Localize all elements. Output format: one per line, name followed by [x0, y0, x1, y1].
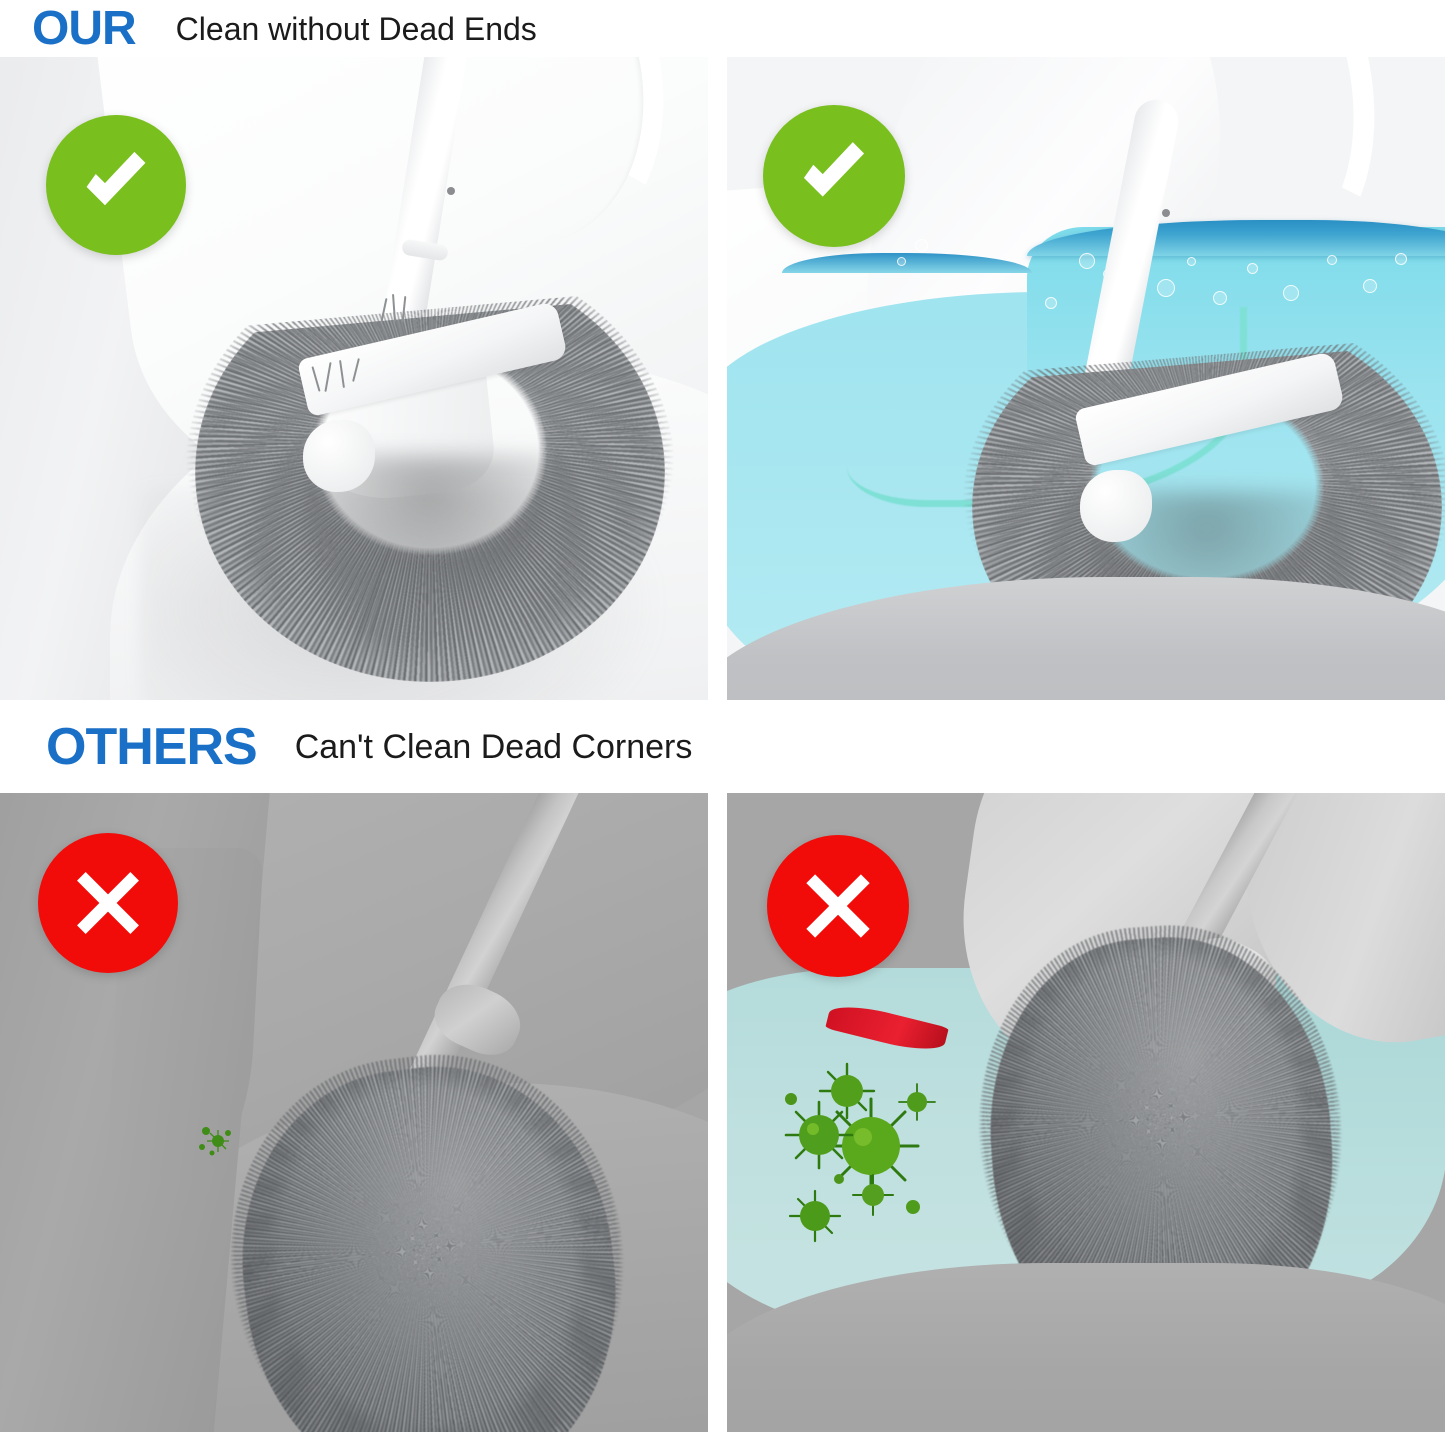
bubble-icon — [1283, 285, 1299, 301]
check-circle-icon — [763, 105, 905, 247]
germ-icon — [196, 1123, 252, 1165]
panel-ours-dry — [0, 57, 708, 700]
panel-others-water — [727, 793, 1445, 1432]
curved-brush-head — [195, 262, 665, 682]
ours-subtitle-label: Clean without Dead Ends — [176, 13, 537, 45]
panel-others-dry — [0, 793, 708, 1432]
handle-hole-dot — [447, 187, 455, 195]
panel-ours-water — [727, 57, 1445, 700]
others-header-band: OTHERS Can't Clean Dead Corners — [0, 700, 1445, 793]
brush-hub — [303, 420, 375, 492]
check-circle-icon — [46, 115, 186, 255]
brush-hub — [1080, 470, 1152, 542]
bristle-shading — [242, 455, 618, 657]
bubble-icon — [1157, 279, 1175, 297]
germ-cluster — [196, 1123, 252, 1170]
ours-kicker-label: OUR — [32, 5, 136, 53]
bubble-icon — [1079, 253, 1095, 269]
bubble-icon — [1045, 297, 1057, 309]
bubble-icon — [1327, 255, 1337, 265]
germ-icon — [775, 1055, 965, 1245]
bubble-icon — [915, 239, 928, 252]
product-comparison-infographic: OUR Clean without Dead Ends — [0, 0, 1445, 1432]
others-kicker-label: OTHERS — [46, 721, 257, 773]
ours-header-band: OUR Clean without Dead Ends — [0, 0, 1445, 57]
cross-circle-icon — [38, 833, 178, 973]
bubble-icon — [1213, 291, 1227, 305]
germ-cluster — [775, 1055, 965, 1250]
bubble-icon — [1395, 253, 1407, 265]
bowl-outer-shadow — [727, 1263, 1445, 1432]
bubble-icon — [897, 257, 906, 266]
bubble-icon — [1363, 279, 1377, 293]
others-subtitle-label: Can't Clean Dead Corners — [295, 730, 693, 764]
handle-hole-dot — [1162, 209, 1170, 217]
cross-circle-icon — [767, 835, 909, 977]
